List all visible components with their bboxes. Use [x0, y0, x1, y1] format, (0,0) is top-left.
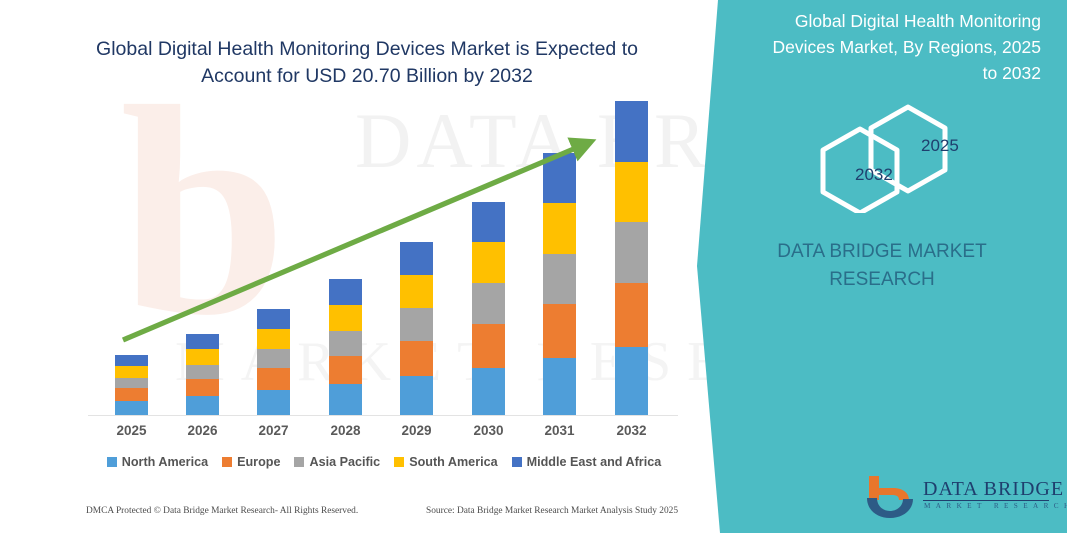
- x-tick-2028: 2028: [316, 423, 376, 438]
- bar-segment-north-america: [329, 384, 362, 415]
- bar-2027: [257, 309, 290, 415]
- bar-group: [88, 100, 678, 415]
- logo-wordmark: DATA BRIDGE: [923, 478, 1064, 501]
- bar-2029: [400, 242, 433, 415]
- bar-segment-south-america: [257, 329, 290, 349]
- chart-legend: North AmericaEuropeAsia PacificSouth Ame…: [88, 455, 680, 469]
- x-tick-2031: 2031: [530, 423, 590, 438]
- side-panel: Global Digital Health Monitoring Devices…: [690, 0, 1067, 533]
- bar-2032: [615, 101, 648, 415]
- bar-segment-asia-pacific: [186, 365, 219, 379]
- x-tick-2026: 2026: [173, 423, 233, 438]
- bar-segment-asia-pacific: [257, 349, 290, 368]
- x-axis-line: [88, 415, 678, 416]
- bar-2025: [115, 355, 148, 415]
- bar-segment-south-america: [186, 349, 219, 365]
- bar-segment-south-america: [472, 242, 505, 283]
- bar-2028: [329, 279, 362, 415]
- legend-item-middle-east-and-africa[interactable]: Middle East and Africa: [512, 455, 662, 469]
- logo-tagline: MARKET RESEARCH: [924, 502, 1067, 510]
- bar-segment-middle-east-and-africa: [472, 202, 505, 242]
- bar-segment-asia-pacific: [543, 254, 576, 304]
- legend-item-asia-pacific[interactable]: Asia Pacific: [294, 455, 380, 469]
- logo-divider: [923, 500, 1049, 501]
- bar-segment-north-america: [400, 376, 433, 415]
- footer-copyright: DMCA Protected © Data Bridge Market Rese…: [86, 506, 358, 516]
- bar-segment-north-america: [257, 390, 290, 415]
- side-panel-brand-line1: DATA BRIDGE MARKET: [777, 241, 986, 262]
- bar-segment-asia-pacific: [115, 378, 148, 388]
- bar-segment-south-america: [400, 275, 433, 308]
- bar-segment-europe: [615, 283, 648, 347]
- legend-label: Europe: [237, 455, 280, 469]
- bar-segment-south-america: [615, 162, 648, 222]
- bar-segment-north-america: [543, 358, 576, 415]
- legend-item-south-america[interactable]: South America: [394, 455, 497, 469]
- legend-item-europe[interactable]: Europe: [222, 455, 280, 469]
- hex-badge-2032: 2032: [855, 165, 893, 185]
- legend-label: Asia Pacific: [309, 455, 380, 469]
- bar-segment-north-america: [186, 396, 219, 415]
- side-panel-title: Global Digital Health Monitoring Devices…: [756, 8, 1041, 86]
- bar-segment-middle-east-and-africa: [186, 334, 219, 349]
- data-bridge-logo: DATA BRIDGE MARKET RESEARCH: [863, 472, 1053, 524]
- bar-segment-middle-east-and-africa: [615, 101, 648, 162]
- bar-segment-europe: [472, 324, 505, 368]
- side-panel-brand: DATA BRIDGE MARKET RESEARCH: [732, 238, 1032, 294]
- bar-segment-europe: [115, 388, 148, 401]
- hex-badge-2025: 2025: [921, 136, 959, 156]
- x-axis-labels: 20252026202720282029203020312032: [88, 423, 678, 443]
- hexagon-outlines-icon: [808, 103, 1008, 213]
- bar-segment-north-america: [115, 401, 148, 415]
- bar-2026: [186, 334, 219, 415]
- bar-segment-asia-pacific: [615, 222, 648, 283]
- bar-segment-asia-pacific: [400, 308, 433, 341]
- bar-segment-europe: [186, 379, 219, 396]
- bar-segment-europe: [257, 368, 290, 390]
- bar-segment-middle-east-and-africa: [115, 355, 148, 366]
- legend-swatch-icon: [222, 457, 232, 467]
- footer-source: Source: Data Bridge Market Research Mark…: [426, 506, 678, 516]
- bar-segment-north-america: [615, 347, 648, 415]
- bar-segment-middle-east-and-africa: [400, 242, 433, 275]
- bar-segment-europe: [543, 304, 576, 358]
- chart-plot-area: [88, 100, 678, 416]
- bar-segment-europe: [329, 356, 362, 384]
- page-title: Global Digital Health Monitoring Devices…: [72, 36, 662, 90]
- legend-label: North America: [122, 455, 208, 469]
- bar-segment-middle-east-and-africa: [257, 309, 290, 329]
- legend-swatch-icon: [512, 457, 522, 467]
- bar-2030: [472, 202, 505, 415]
- legend-label: South America: [409, 455, 497, 469]
- bar-segment-asia-pacific: [329, 331, 362, 356]
- bar-segment-europe: [400, 341, 433, 376]
- bar-2031: [543, 153, 576, 415]
- x-tick-2025: 2025: [102, 423, 162, 438]
- x-tick-2027: 2027: [244, 423, 304, 438]
- legend-swatch-icon: [294, 457, 304, 467]
- x-tick-2032: 2032: [602, 423, 662, 438]
- legend-swatch-icon: [394, 457, 404, 467]
- hexagon-badges: 2025 2032: [808, 103, 1008, 213]
- bar-segment-asia-pacific: [472, 283, 505, 324]
- legend-swatch-icon: [107, 457, 117, 467]
- footer: DMCA Protected © Data Bridge Market Rese…: [86, 506, 686, 522]
- infographic-slide: b DATA BRIDGE MARKET RESEARCH Global Dig…: [0, 0, 1067, 533]
- bar-segment-south-america: [115, 366, 148, 378]
- data-bridge-mark-icon: [863, 474, 919, 520]
- legend-label: Middle East and Africa: [527, 455, 662, 469]
- bar-segment-middle-east-and-africa: [329, 279, 362, 305]
- side-panel-brand-line2: RESEARCH: [829, 269, 935, 290]
- bar-segment-middle-east-and-africa: [543, 153, 576, 203]
- bar-segment-north-america: [472, 368, 505, 415]
- bar-segment-south-america: [329, 305, 362, 331]
- x-tick-2030: 2030: [459, 423, 519, 438]
- x-tick-2029: 2029: [387, 423, 447, 438]
- legend-item-north-america[interactable]: North America: [107, 455, 208, 469]
- bar-segment-south-america: [543, 203, 576, 254]
